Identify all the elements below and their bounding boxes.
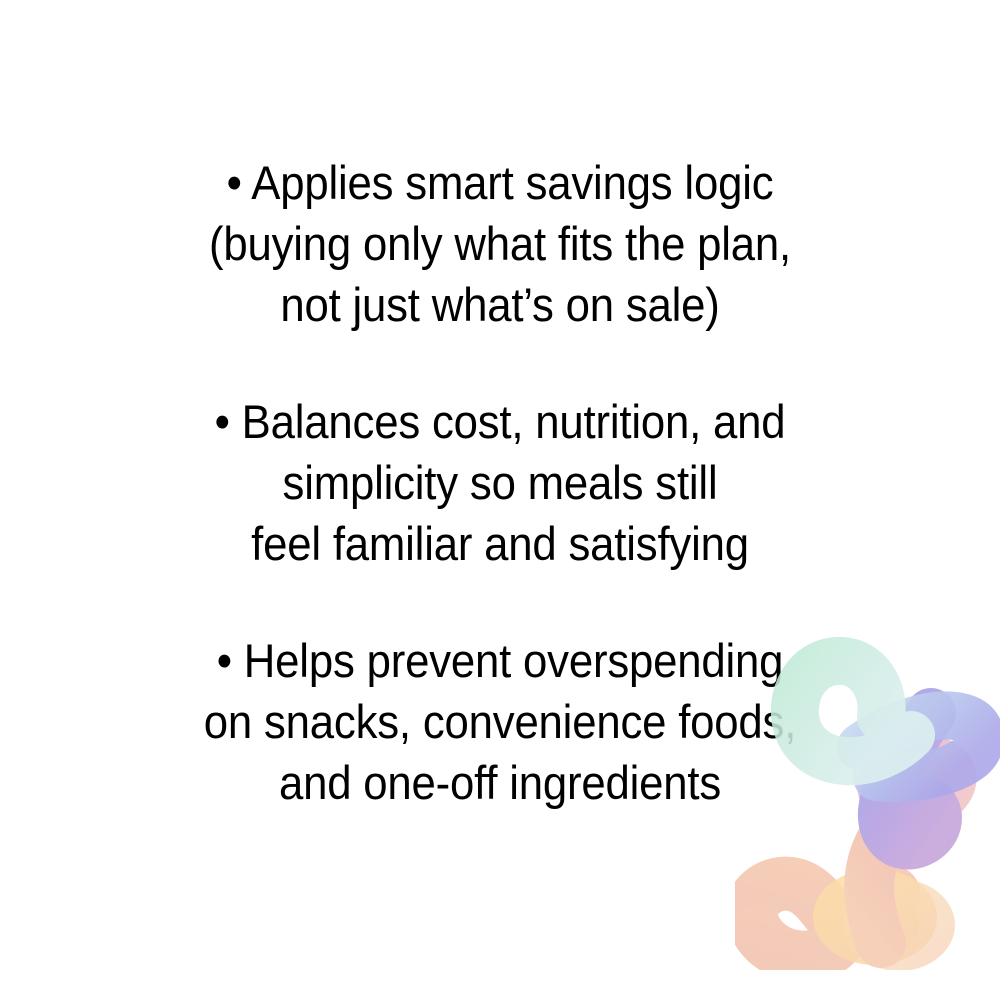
bullet-line: on snacks, convenience foods,: [147, 691, 854, 752]
bullet-line: (buying only what fits the plan,: [147, 213, 854, 274]
bullet-line: • Helps prevent overspending: [147, 630, 854, 691]
slide-canvas: • Applies smart savings logic (buying on…: [0, 0, 1000, 1000]
bullet-line: not just what’s on sale): [147, 274, 854, 335]
bullet-line: • Balances cost, nutrition, and: [147, 391, 854, 452]
bullet-content: • Applies smart savings logic (buying on…: [120, 152, 880, 813]
bullet-group-2: • Balances cost, nutrition, and simplici…: [120, 391, 880, 574]
bullet-line: simplicity so meals still: [147, 452, 854, 513]
bullet-line: feel familiar and satisfying: [147, 513, 854, 574]
bullet-group-3: • Helps prevent overspending on snacks, …: [120, 630, 880, 813]
bullet-line: and one-off ingredients: [147, 752, 854, 813]
bullet-group-1: • Applies smart savings logic (buying on…: [120, 152, 880, 335]
bullet-line: • Applies smart savings logic: [147, 152, 854, 213]
